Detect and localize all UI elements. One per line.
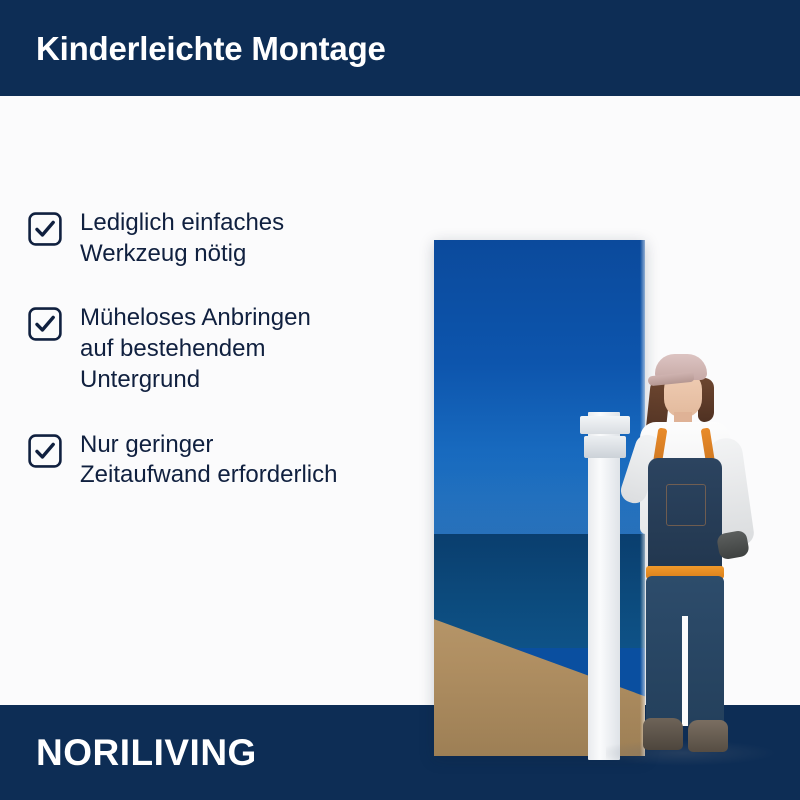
header-bar: Kinderleichte Montage [0, 0, 800, 96]
person-leg-gap [682, 616, 688, 726]
feature-text: Müheloses Anbringen auf bestehendem Unte… [80, 303, 311, 395]
product-infographic: Kinderleichte Montage Lediglich einfache… [0, 0, 800, 800]
brand-logo: NORILIVING [0, 734, 257, 771]
page-title: Kinderleichte Montage [0, 32, 386, 65]
feature-item-mounting: Müheloses Anbringen auf bestehendem Unte… [28, 303, 428, 395]
checkbox-checked-icon [28, 212, 62, 246]
installer-person [610, 354, 760, 760]
checkbox-checked-icon [28, 434, 62, 468]
person-boot-right [688, 720, 728, 752]
feature-item-time: Nur geringer Zeitaufwand erforderlich [28, 430, 428, 491]
feature-list: Lediglich einfaches Werkzeug nötig Mühel… [28, 208, 428, 491]
person-work-glove [716, 530, 750, 561]
content-area: Lediglich einfaches Werkzeug nötig Mühel… [0, 96, 800, 705]
feature-item-tools: Lediglich einfaches Werkzeug nötig [28, 208, 428, 269]
person-boot-left [643, 718, 683, 750]
feature-text: Lediglich einfaches Werkzeug nötig [80, 208, 284, 269]
product-figure [420, 116, 800, 700]
checkbox-checked-icon [28, 307, 62, 341]
person-overall-pocket [666, 484, 706, 526]
feature-text: Nur geringer Zeitaufwand erforderlich [80, 430, 337, 491]
